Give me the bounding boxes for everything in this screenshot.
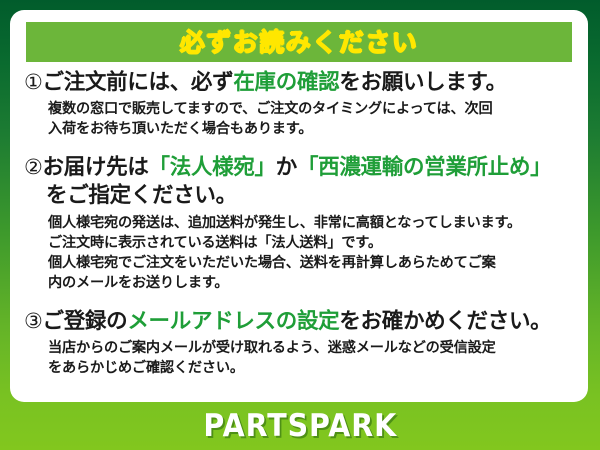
section-headline-line: をご指定ください。 xyxy=(10,182,588,210)
headline-text: か xyxy=(276,155,297,180)
headline-text: をご指定ください。 xyxy=(46,183,237,208)
section-headline-line: ②お届け先は「法人様宛」か「西濃運輸の営業所止め」 xyxy=(10,153,588,182)
section-body-line: 複数の窓口で販売してますので、ご注文のタイミングによっては、次回 xyxy=(10,99,588,119)
notice-section: ①ご注文前には、必ず在庫の確認をお願いします。複数の窓口で販売してますので、ご注… xyxy=(10,68,588,139)
section-headline-line: ①ご注文前には、必ず在庫の確認をお願いします。 xyxy=(10,68,588,97)
title-bar: 必ずお読みください xyxy=(26,22,572,62)
brand-name: PARTSPARK xyxy=(203,411,397,442)
section-body: 当店からのご案内メールが受け取れるよう、迷惑メールなどの受信設定をあらかじめご確… xyxy=(10,338,588,378)
section-body-line: ご注文時に表示されている送料は「法人送料」です。 xyxy=(10,233,588,253)
notice-section: ②お届け先は「法人様宛」か「西濃運輸の営業所止め」をご指定ください。個人様宅宛の… xyxy=(10,153,588,293)
section-body-line: 内のメールをお送りします。 xyxy=(10,273,588,293)
section-body-line: 入荷をお待ち頂いただく場合もあります。 xyxy=(10,119,588,139)
section-body-line: 個人様宅宛でご注文をいただいた場合、送料を再計算しあらためてご案 xyxy=(10,253,588,273)
section-body: 複数の窓口で販売してますので、ご注文のタイミングによっては、次回入荷をお待ち頂い… xyxy=(10,99,588,139)
section-body: 個人様宅宛の発送は、追加送料が発生し、非常に高額となってしまいます。ご注文時に表… xyxy=(10,213,588,293)
headline-highlight: 在庫の確認 xyxy=(233,70,339,95)
headline-text: お届け先は xyxy=(43,155,149,180)
section-number: ② xyxy=(24,155,43,179)
headline-text: をお確かめください。 xyxy=(339,309,551,334)
headline-text: ご登録の xyxy=(43,309,128,334)
headline-highlight: 「西濃運輸の営業所止め」 xyxy=(297,155,551,180)
section-body-line: 当店からのご案内メールが受け取れるよう、迷惑メールなどの受信設定 xyxy=(10,338,588,358)
brand-footer: PARTSPARK xyxy=(0,402,600,450)
headline-highlight: メールアドレスの設定 xyxy=(127,309,339,334)
headline-text: をお願いします。 xyxy=(339,70,506,95)
page-title: 必ずお読みください xyxy=(180,30,419,55)
notice-card: 必ずお読みください ①ご注文前には、必ず在庫の確認をお願いします。複数の窓口で販… xyxy=(10,10,588,402)
section-number: ③ xyxy=(24,309,43,333)
headline-text: ご注文前には、必ず xyxy=(43,70,234,95)
section-headline-line: ③ご登録のメールアドレスの設定をお確かめください。 xyxy=(10,307,588,336)
section-number: ① xyxy=(24,70,43,94)
section-body-line: をあらかじめご確認ください。 xyxy=(10,358,588,378)
notice-sections-list: ①ご注文前には、必ず在庫の確認をお願いします。複数の窓口で販売してますので、ご注… xyxy=(10,68,588,378)
headline-highlight: 「法人様宛」 xyxy=(149,155,276,180)
notice-section: ③ご登録のメールアドレスの設定をお確かめください。当店からのご案内メールが受け取… xyxy=(10,307,588,378)
section-body-line: 個人様宅宛の発送は、追加送料が発生し、非常に高額となってしまいます。 xyxy=(10,213,588,233)
